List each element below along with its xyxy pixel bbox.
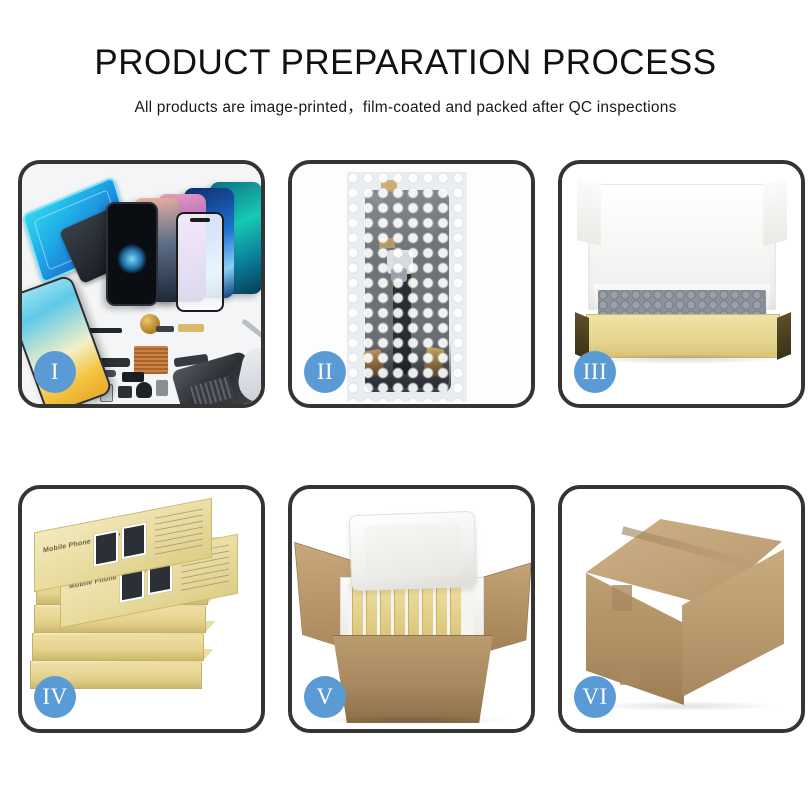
process-step-panel-4: Mobile Phone Spare Parts Mobile Phone Sp… [18, 485, 265, 733]
process-step-panel-6: VI [558, 485, 805, 733]
foam-cooler-lid [349, 511, 478, 591]
carton-tape-upper [612, 585, 632, 611]
phone-screen-fan [106, 180, 261, 300]
carton-body [326, 635, 500, 723]
page-header: PRODUCT PREPARATION PROCESS All products… [0, 0, 811, 117]
retail-boxes-inside [348, 583, 474, 639]
step-badge-5: V [304, 676, 346, 718]
step-badge-1: I [34, 351, 76, 393]
carton-tape-lower [620, 661, 640, 685]
page-title: PRODUCT PREPARATION PROCESS [0, 0, 811, 82]
box-base [586, 314, 780, 358]
step-badge-3: III [574, 351, 616, 393]
page-subtitle: All products are image-printed，film-coat… [0, 82, 811, 117]
tempered-glass-icon [176, 212, 224, 312]
process-step-grid: I II [18, 160, 805, 733]
step-badge-2: II [304, 351, 346, 393]
process-step-panel-1: I [18, 160, 265, 408]
step-badge-6: VI [574, 676, 616, 718]
process-step-panel-2: II [288, 160, 535, 408]
process-step-panel-5: V [288, 485, 535, 733]
bubble-wrap-sleeve [347, 172, 467, 402]
step-badge-4: IV [34, 676, 76, 718]
process-step-panel-3: III [558, 160, 805, 408]
